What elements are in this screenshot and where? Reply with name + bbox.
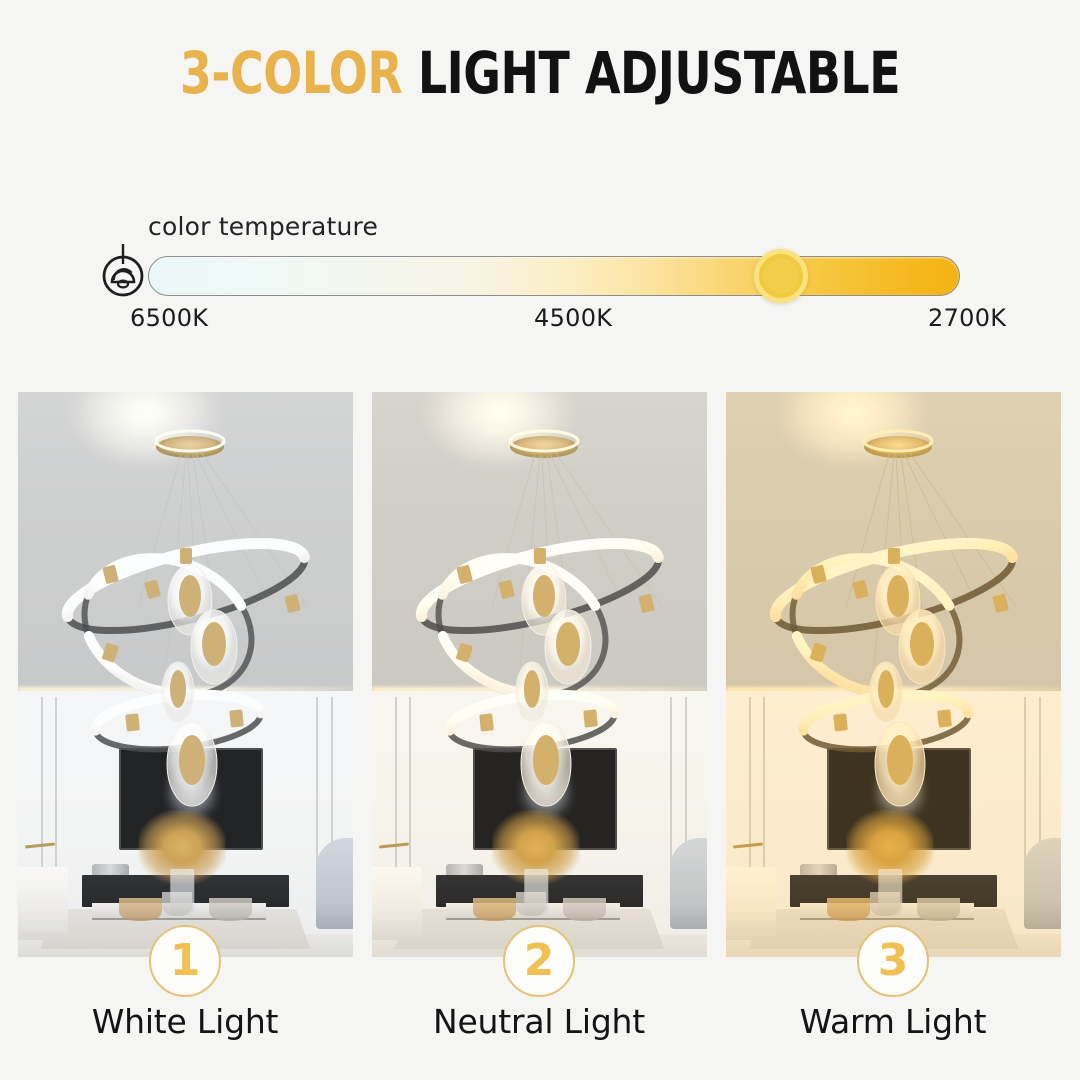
slider-thumb[interactable] <box>754 249 808 303</box>
pendant-lamp-icon <box>96 242 150 298</box>
color-temperature-slider-block: color temperature 6500K 4500K 2700K <box>0 212 1080 332</box>
chandelier-neutral <box>372 392 707 957</box>
title-main: LIGHT ADJUSTABLE <box>402 39 900 107</box>
caption-white-light: White Light <box>15 1002 355 1041</box>
caption-warm-light: Warm Light <box>723 1002 1063 1041</box>
step-badge-3: 3 <box>857 925 929 997</box>
kelvin-tick-6500k: 6500K <box>130 304 208 332</box>
slider-label: color temperature <box>148 212 378 241</box>
chandelier-warm <box>726 392 1061 957</box>
slider-track-wrap[interactable] <box>148 256 960 296</box>
step-badge-2: 2 <box>503 925 575 997</box>
kelvin-tick-2700k: 2700K <box>928 304 1006 332</box>
panel-white-light[interactable] <box>18 392 353 957</box>
chandelier-white <box>18 392 353 957</box>
kelvin-scale: 6500K 4500K 2700K <box>0 304 1080 338</box>
page-title: 3-COLOR LIGHT ADJUSTABLE <box>0 44 1080 102</box>
step-badge-1: 1 <box>149 925 221 997</box>
room-scene-white <box>18 392 353 957</box>
slider-track[interactable] <box>148 256 960 296</box>
room-scene-warm <box>726 392 1061 957</box>
light-mode-panels <box>18 392 1062 957</box>
step-badge-1-number: 1 <box>170 939 201 983</box>
step-badge-3-number: 3 <box>878 939 909 983</box>
room-scene-neutral <box>372 392 707 957</box>
panel-neutral-light[interactable] <box>372 392 707 957</box>
step-badge-2-number: 2 <box>524 939 555 983</box>
title-text: 3-COLOR LIGHT ADJUSTABLE <box>65 44 1015 102</box>
panel-warm-light[interactable] <box>726 392 1061 957</box>
caption-neutral-light: Neutral Light <box>369 1002 709 1041</box>
title-accent: 3-COLOR <box>180 39 402 107</box>
kelvin-tick-4500k: 4500K <box>534 304 612 332</box>
